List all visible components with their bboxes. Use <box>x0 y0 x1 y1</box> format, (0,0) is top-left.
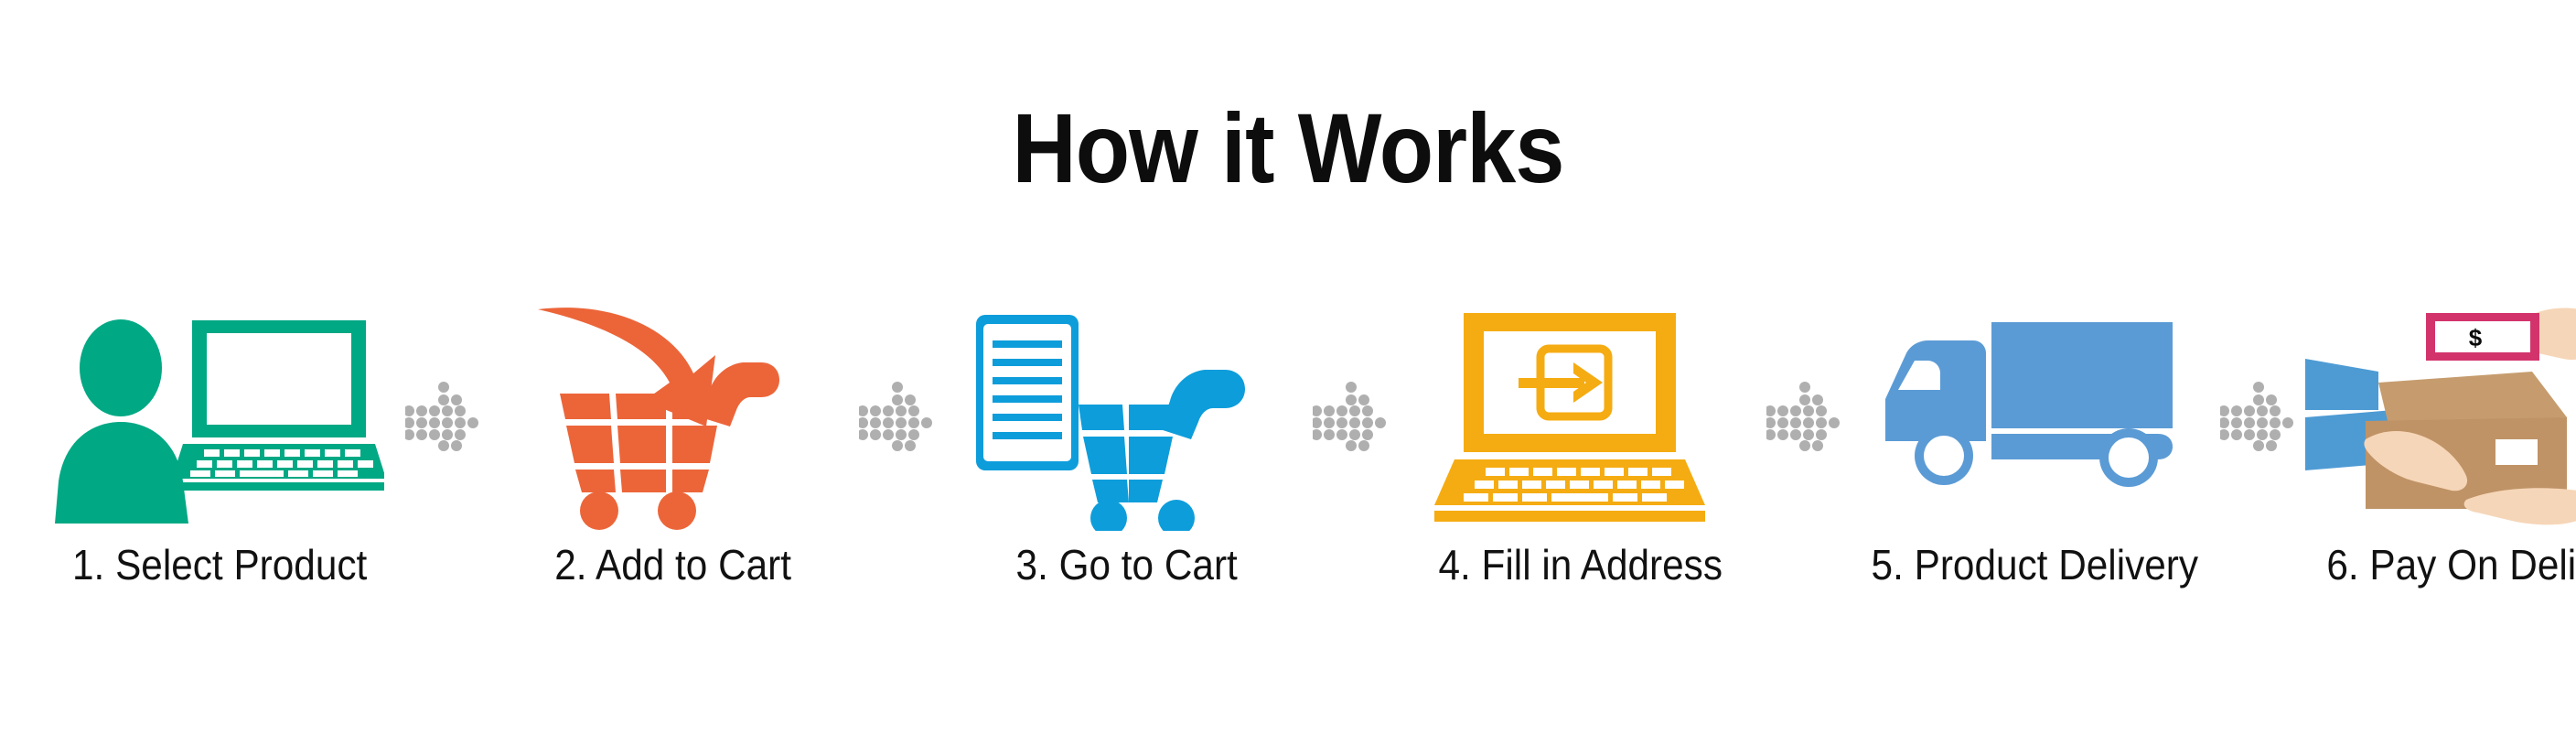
how-it-works-infographic: How it Works <box>0 0 2576 745</box>
dotted-arrow-right-icon <box>405 380 488 453</box>
step-2-artwork <box>490 302 856 531</box>
shopping-cart-with-arrow-icon <box>527 302 820 531</box>
connector-4 <box>1764 302 1851 531</box>
step-fill-in-address[interactable]: 4. Fill in Address <box>1398 302 1764 586</box>
connector-2 <box>856 302 944 531</box>
step-5-label: 5. Product Delivery <box>1871 544 2198 586</box>
connector-1 <box>402 302 490 531</box>
steps-row: 1. Select Product <box>37 302 2543 632</box>
step-3-artwork <box>944 302 1310 531</box>
dotted-arrow-right-icon <box>2220 380 2302 453</box>
step-2-label: 2. Add to Cart <box>555 544 792 586</box>
step-go-to-cart[interactable]: 3. Go to Cart <box>944 302 1310 586</box>
connector-3 <box>1310 302 1398 531</box>
step-product-delivery[interactable]: 5. Product Delivery <box>1851 302 2217 586</box>
step-4-label: 4. Fill in Address <box>1439 544 1723 586</box>
laptop-with-login-arrow-icon <box>1434 302 1727 531</box>
page-title: How it Works <box>129 99 2447 198</box>
delivery-truck-icon <box>1884 302 2185 531</box>
document-with-cart-icon <box>976 302 1278 531</box>
connector-5 <box>2217 302 2305 531</box>
step-4-artwork <box>1398 302 1764 531</box>
hands-exchanging-box-and-cash-icon: $ <box>2305 302 2576 531</box>
person-with-laptop-icon <box>55 302 384 531</box>
dotted-arrow-right-icon <box>859 380 941 453</box>
step-6-artwork: $ <box>2305 302 2576 531</box>
step-select-product[interactable]: 1. Select Product <box>37 302 402 586</box>
dotted-arrow-right-icon <box>1766 380 1849 453</box>
step-5-artwork <box>1851 302 2217 531</box>
step-add-to-cart[interactable]: 2. Add to Cart <box>490 302 856 586</box>
dotted-arrow-right-icon <box>1313 380 1395 453</box>
step-3-label: 3. Go to Cart <box>1016 544 1238 586</box>
dollar-symbol: $ <box>2469 324 2483 351</box>
step-6-label: 6. Pay On Delivery <box>2327 544 2576 586</box>
step-1-label: 1. Select Product <box>72 544 367 586</box>
step-pay-on-delivery[interactable]: $ <box>2305 302 2576 586</box>
step-1-artwork <box>37 302 402 531</box>
